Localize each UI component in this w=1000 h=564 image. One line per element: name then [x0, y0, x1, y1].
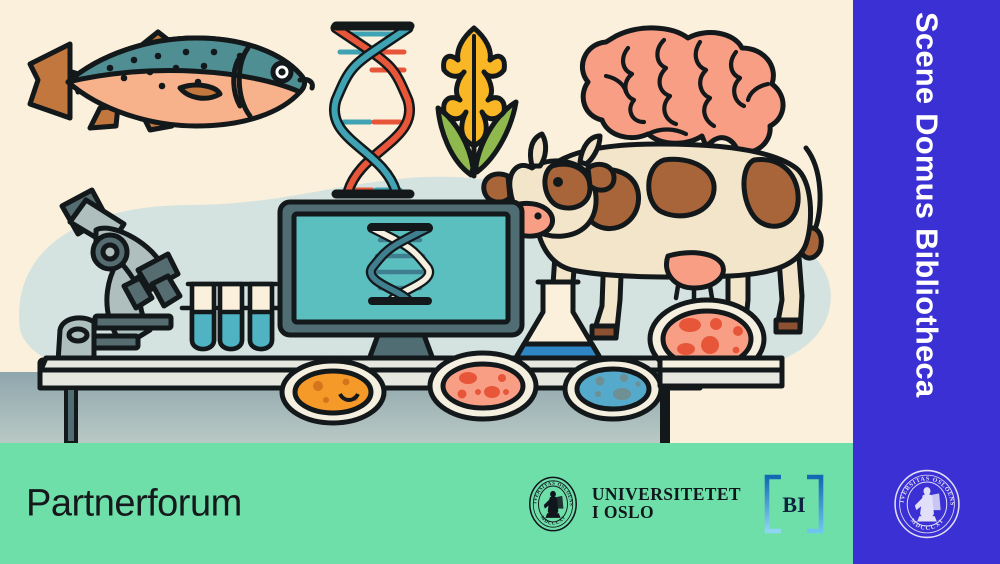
lab-bench-shelf — [660, 358, 782, 386]
footer-title: Partnerforum — [26, 482, 242, 525]
bi-logo-text: BI — [782, 492, 805, 517]
bi-logo[interactable]: BI — [763, 473, 825, 535]
sidebar-banner: Scene Domus Bibliotheca UNIVERSITAS OSLO… — [853, 0, 1000, 564]
bi-logo-icon: BI — [763, 473, 825, 535]
uio-seal-icon: UNIVERSITAS OSLOENSIS MDCCCXI — [524, 475, 582, 533]
partner-logos: UNIVERSITAS OSLOENSIS MDCCCXI — [524, 473, 825, 535]
university-of-oslo-logo[interactable]: UNIVERSITAS OSLOENSIS MDCCCXI — [524, 475, 741, 533]
petri-dish-orange-icon — [282, 361, 384, 423]
sidebar-title-text: Scene Domus Bibliotheca — [909, 12, 945, 397]
uio-wordmark: UNIVERSITETET I OSLO — [592, 486, 741, 522]
footer-band: Partnerforum UNIVERSITAS OSLOENSIS MDCCC… — [0, 443, 853, 564]
sidebar-uio-seal-icon: UNIVERSITAS OSLOENSIS MDCCCXI — [889, 466, 965, 542]
poster-canvas: Partnerforum UNIVERSITAS OSLOENSIS MDCCC… — [0, 0, 1000, 564]
test-tube-rack-icon — [182, 284, 288, 349]
petri-dish-pink-left-icon — [430, 353, 536, 419]
science-illustration — [0, 0, 853, 443]
uio-wordmark-line2: I OSLO — [592, 504, 741, 522]
petri-dish-blue-icon — [565, 359, 661, 419]
sidebar-title: Scene Domus Bibliotheca — [853, 12, 1000, 432]
